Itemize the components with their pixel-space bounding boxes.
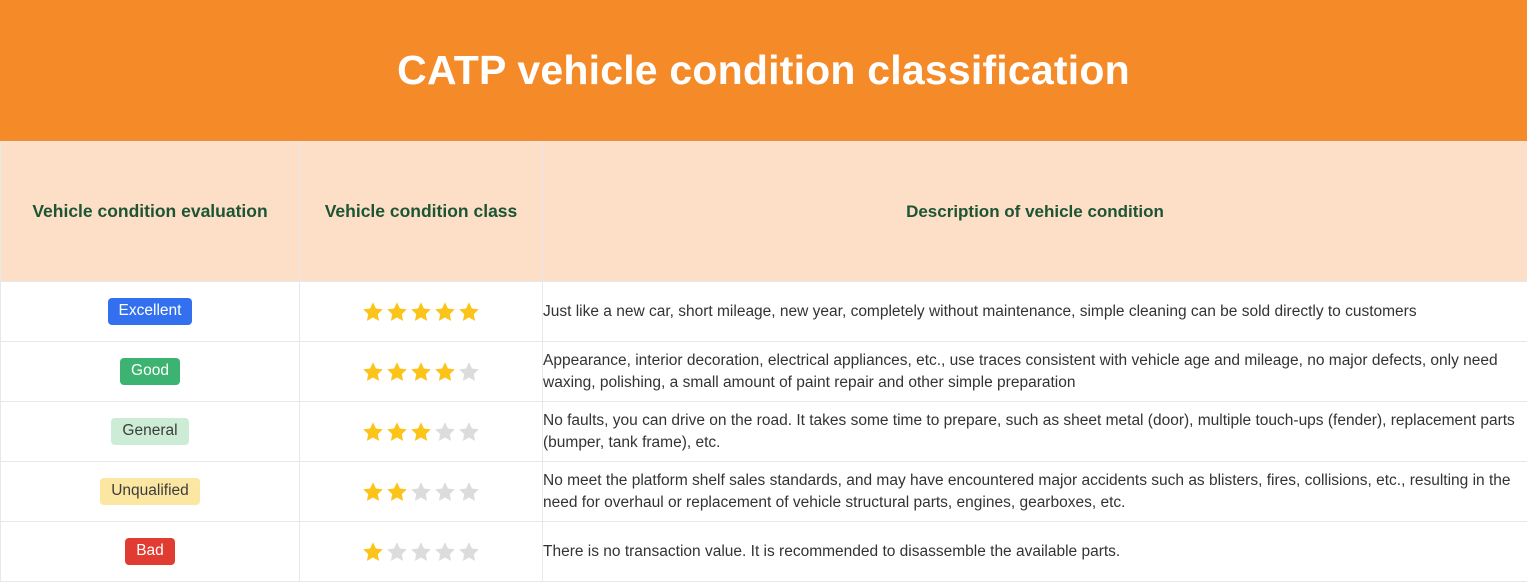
star-empty-icon (385, 540, 409, 564)
star-filled-icon (385, 420, 409, 444)
star-filled-icon (409, 420, 433, 444)
condition-class-cell (300, 402, 543, 462)
star-filled-icon (385, 480, 409, 504)
condition-class-cell (300, 342, 543, 402)
table-body: ExcellentJust like a new car, short mile… (1, 282, 1527, 582)
star-rating (361, 480, 481, 504)
star-filled-icon (409, 300, 433, 324)
status-badge: General (111, 418, 188, 444)
vehicle-condition-table: Vehicle condition evaluation Vehicle con… (0, 141, 1527, 582)
condition-class-cell (300, 522, 543, 582)
table-row: GeneralNo faults, you can drive on the r… (1, 402, 1527, 462)
evaluation-cell: Excellent (1, 282, 300, 342)
star-empty-icon (457, 420, 481, 444)
star-filled-icon (361, 360, 385, 384)
star-filled-icon (361, 540, 385, 564)
star-filled-icon (385, 300, 409, 324)
star-filled-icon (433, 300, 457, 324)
table-row: UnqualifiedNo meet the platform shelf sa… (1, 462, 1527, 522)
star-empty-icon (457, 360, 481, 384)
star-filled-icon (457, 300, 481, 324)
status-badge: Bad (125, 538, 175, 564)
status-badge: Unqualified (100, 478, 200, 504)
column-header-class: Vehicle condition class (300, 142, 543, 282)
condition-class-cell (300, 462, 543, 522)
star-filled-icon (385, 360, 409, 384)
condition-class-cell (300, 282, 543, 342)
star-rating (361, 540, 481, 564)
star-empty-icon (457, 480, 481, 504)
description-cell: No meet the platform shelf sales standar… (543, 462, 1527, 522)
evaluation-cell: General (1, 402, 300, 462)
description-cell: There is no transaction value. It is rec… (543, 522, 1527, 582)
star-rating (361, 420, 481, 444)
table-row: BadThere is no transaction value. It is … (1, 522, 1527, 582)
description-cell: Appearance, interior decoration, electri… (543, 342, 1527, 402)
description-cell: No faults, you can drive on the road. It… (543, 402, 1527, 462)
table-row: ExcellentJust like a new car, short mile… (1, 282, 1527, 342)
star-empty-icon (433, 540, 457, 564)
star-filled-icon (433, 360, 457, 384)
status-badge: Excellent (108, 298, 193, 324)
star-filled-icon (361, 480, 385, 504)
evaluation-cell: Good (1, 342, 300, 402)
title-banner: CATP vehicle condition classification (0, 0, 1527, 141)
star-empty-icon (433, 420, 457, 444)
star-empty-icon (433, 480, 457, 504)
table-header-row: Vehicle condition evaluation Vehicle con… (1, 142, 1527, 282)
description-cell: Just like a new car, short mileage, new … (543, 282, 1527, 342)
star-empty-icon (409, 480, 433, 504)
table-row: GoodAppearance, interior decoration, ele… (1, 342, 1527, 402)
column-header-evaluation: Vehicle condition evaluation (1, 142, 300, 282)
star-rating (361, 300, 481, 324)
evaluation-cell: Unqualified (1, 462, 300, 522)
column-header-description: Description of vehicle condition (543, 142, 1527, 282)
evaluation-cell: Bad (1, 522, 300, 582)
page-title: CATP vehicle condition classification (397, 48, 1130, 93)
star-filled-icon (361, 420, 385, 444)
vehicle-condition-classification-sheet: CATP vehicle condition classification Ve… (0, 0, 1527, 579)
star-rating (361, 360, 481, 384)
star-filled-icon (361, 300, 385, 324)
star-filled-icon (409, 360, 433, 384)
star-empty-icon (457, 540, 481, 564)
status-badge: Good (120, 358, 180, 384)
star-empty-icon (409, 540, 433, 564)
